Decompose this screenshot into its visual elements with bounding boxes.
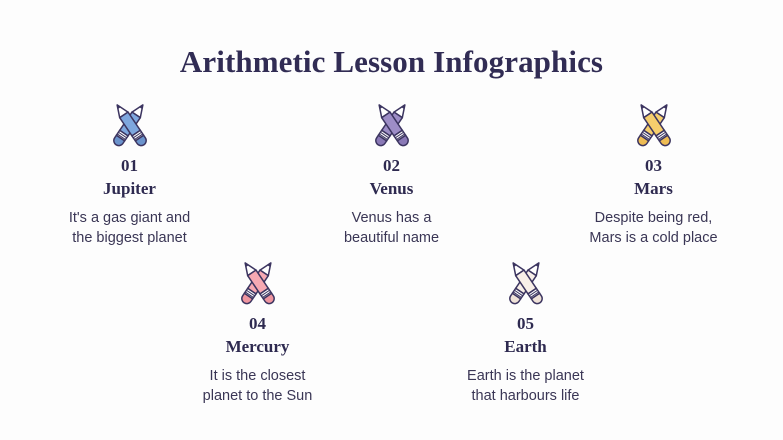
page-title: Arithmetic Lesson Infographics <box>0 44 783 80</box>
card-description: Earth is the planet that harbours life <box>467 366 584 407</box>
card-number: 02 <box>383 157 400 175</box>
card-number: 01 <box>121 157 138 175</box>
card-number: 03 <box>645 157 662 175</box>
card-name: Jupiter <box>103 180 156 198</box>
card-name: Mercury <box>226 338 290 356</box>
crossed-pencils-icon <box>365 98 419 150</box>
slide-canvas: Arithmetic Lesson Infographics <box>0 0 783 440</box>
crossed-pencils-icon <box>627 98 681 150</box>
card-description: It's a gas giant and the biggest planet <box>69 208 190 249</box>
card-description: It is the closest planet to the Sun <box>203 366 313 407</box>
infographic-card[interactable]: 03 Mars Despite being red, Mars is a col… <box>528 98 780 249</box>
crossed-pencils-icon <box>103 98 157 150</box>
crossed-pencils-icon <box>499 256 553 308</box>
infographic-card[interactable]: 04 Mercury It is the closest planet to t… <box>132 256 384 407</box>
infographic-card[interactable]: 02 Venus Venus has a beautiful name <box>266 98 518 249</box>
infographic-card[interactable]: 05 Earth Earth is the planet that harbou… <box>400 256 652 407</box>
card-description: Despite being red, Mars is a cold place <box>589 208 717 249</box>
card-name: Mars <box>634 180 673 198</box>
infographic-row-top: 01 Jupiter It's a gas giant and the bigg… <box>0 98 783 249</box>
card-description: Venus has a beautiful name <box>344 208 439 249</box>
infographic-card[interactable]: 01 Jupiter It's a gas giant and the bigg… <box>4 98 256 249</box>
card-name: Earth <box>504 338 547 356</box>
infographic-row-bottom: 04 Mercury It is the closest planet to t… <box>0 256 783 407</box>
card-number: 05 <box>517 315 534 333</box>
card-number: 04 <box>249 315 266 333</box>
crossed-pencils-icon <box>231 256 285 308</box>
card-name: Venus <box>370 180 414 198</box>
